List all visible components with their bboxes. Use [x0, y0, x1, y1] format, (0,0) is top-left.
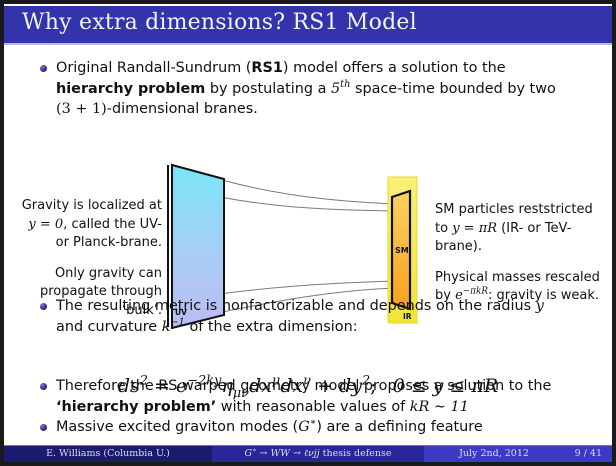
page-title: Why extra dimensions? RS1 Model	[22, 10, 417, 35]
bullet-text: Therefore the RS warped geometry model p…	[56, 376, 551, 417]
footer-talk-math-ww: WW	[270, 448, 290, 459]
cl-p1-math: y = 0	[28, 217, 63, 232]
b2-l1-math: y	[536, 298, 544, 314]
b1-l2-mid: by postulating a	[205, 81, 331, 97]
footer-bar: E. Williams (Columbia U.) G∗ → WW → ℓνjj…	[4, 446, 612, 462]
cr-p1-c: brane).	[435, 239, 482, 254]
b1-l1-pre: Original Randall-Sundrum (	[56, 60, 251, 76]
caption-right: SM particles reststricted to y = πR (IR-…	[435, 201, 612, 306]
b3-l1: Therefore the RS warped geometry model p…	[56, 378, 551, 394]
cl-p1-c: or Planck-brane.	[56, 235, 162, 250]
caption-right-gap	[435, 257, 612, 269]
footer-arrow-1: →	[256, 448, 270, 459]
cr-p1-b-pre: to	[435, 221, 452, 236]
b1-l3-post: -dimensional branes.	[107, 101, 258, 117]
caption-right-p1: SM particles reststricted to y = πR (IR-…	[435, 201, 612, 257]
cr-p1-a: SM particles reststricted	[435, 202, 593, 217]
footer-talk-math-g: G∗	[245, 448, 257, 459]
b2-l2-post: of the extra dimension:	[185, 319, 358, 335]
b4-l1-post: ) are a defining feature	[316, 419, 482, 435]
sm-label: SM	[395, 246, 409, 255]
bullet-text: Massive excited graviton modes (G∗) are …	[56, 417, 483, 438]
footer-arrow-2: →	[290, 448, 304, 459]
footer-page-number: 9 / 41	[575, 446, 602, 462]
bullet-dot-icon	[40, 65, 47, 72]
b3-l2-mid: with reasonable values of	[216, 399, 410, 415]
b1-l3-math: (3 + 1)	[56, 101, 107, 117]
b2-l2-math: k−1	[162, 319, 185, 335]
bullet-dot-icon	[40, 383, 47, 390]
bullet-text: Original Randall-Sundrum (RS1) model off…	[56, 58, 556, 120]
cl-p1-a: Gravity is localized at	[22, 198, 162, 213]
b2-l2-pre: and curvature	[56, 319, 162, 335]
slide-title-bar: Why extra dimensions? RS1 Model	[4, 6, 612, 43]
b3-l2-bold: ‘hierarchy problem’	[56, 399, 216, 415]
b4-l1-pre: Massive excited graviton modes (	[56, 419, 298, 435]
slide-body: Original Randall-Sundrum (RS1) model off…	[4, 45, 612, 440]
footer-date: July 2nd, 2012	[424, 446, 564, 462]
caption-left-gap	[10, 253, 162, 265]
b4-l1-math: G∗	[298, 419, 316, 435]
b1-l1-post: ) model offers a solution to the	[283, 60, 506, 76]
slide: Why extra dimensions? RS1 Model Original…	[4, 4, 612, 462]
cr-p2-a: Physical masses rescaled	[435, 270, 600, 285]
cl-p1-b: , called the UV-	[63, 217, 162, 232]
footer-talk-math-lvjj: ℓνjj	[304, 448, 320, 459]
b1-l1-bold: RS1	[251, 60, 282, 76]
footer-talk-post: thesis defense	[320, 448, 392, 459]
footer-author: E. Williams (Columbia U.)	[4, 446, 212, 462]
footer-talk-title: G∗ → WW → ℓνjj thesis defense	[212, 446, 424, 462]
b2-l1-pre: The resulting metric is nonfactorizable …	[56, 298, 536, 314]
bullet-dot-icon	[40, 303, 47, 310]
b1-l2-math: 5th	[331, 81, 350, 97]
b1-l2-bold: hierarchy problem	[56, 81, 205, 97]
bullet-dot-icon	[40, 424, 47, 431]
caption-left-p1: Gravity is localized at y = 0, called th…	[10, 197, 162, 253]
bullet-text: The resulting metric is nonfactorizable …	[56, 296, 544, 337]
cr-p1-b-math: y = πR	[452, 221, 497, 236]
footer-date-page: July 2nd, 2012 9 / 41	[424, 446, 612, 462]
cr-p1-b-post: (IR- or TeV-	[497, 221, 571, 236]
cl-p2-a: Only gravity can	[55, 266, 162, 281]
b3-l2-math: kR ∼ 11	[410, 399, 469, 415]
b1-l2-post: space-time bounded by two	[350, 81, 555, 97]
